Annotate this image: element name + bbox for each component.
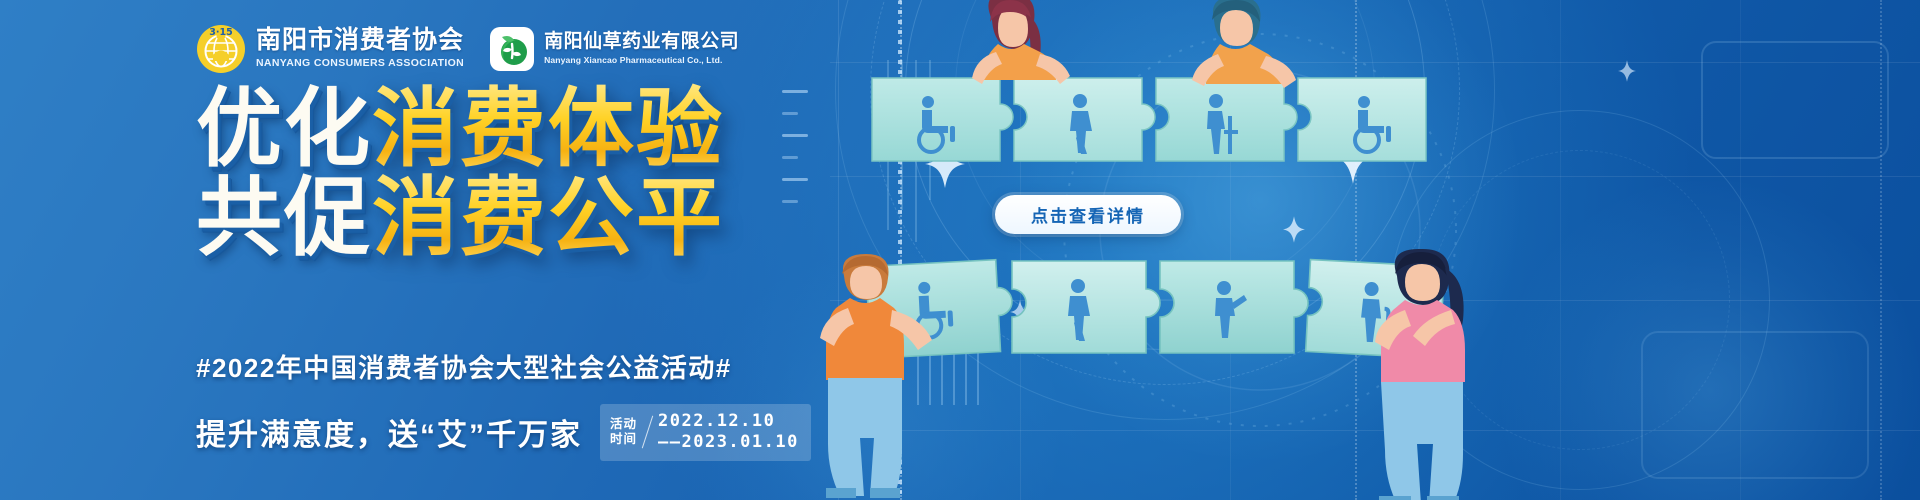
315-globe-icon: 3·15 [196, 24, 246, 74]
event-date-label-line1: 活动 [610, 417, 637, 433]
left-text-panel: 3·15 南阳市消费者协会 NANYANG CONSUMERS ASSOCIAT… [0, 0, 830, 500]
headline-line-1-white: 优化 [196, 79, 372, 179]
slogan-text: 提升满意度，送“艾”千万家 [196, 410, 582, 454]
headline-line-2-yellow: 消费公平 [372, 168, 724, 268]
green-leaf-icon [490, 27, 534, 71]
event-date-box: 活动 时间 2022.12.10 ——2023.01.10 [600, 404, 811, 461]
woman-red-hair [940, 0, 1090, 112]
headline-line-1: 优化消费体验 [196, 88, 724, 171]
logo-title-en: NANYANG CONSUMERS ASSOCIATION [256, 57, 464, 71]
event-date-label-line2: 时间 [610, 432, 637, 448]
logo-title-en: Nanyang Xiancao Pharmaceutical Co., Ltd. [544, 55, 739, 66]
headline-line-1-yellow: 消费体验 [372, 79, 724, 179]
logo-row: 3·15 南阳市消费者协会 NANYANG CONSUMERS ASSOCIAT… [196, 24, 739, 74]
view-details-button[interactable]: 点击查看详情 [995, 195, 1181, 234]
promo-banner: 3·15 南阳市消费者协会 NANYANG CONSUMERS ASSOCIAT… [0, 0, 1920, 500]
man-teal-hair [1160, 0, 1320, 114]
slogan-date-row: 提升满意度，送“艾”千万家 活动 时间 2022.12.10 ——2023.01… [196, 404, 811, 461]
illustration-panel: 点击查看详情 [830, 0, 1920, 500]
svg-text:3·15: 3·15 [209, 27, 232, 38]
event-date-values: 2022.12.10 ——2023.01.10 [658, 411, 799, 454]
event-end-date: ——2023.01.10 [658, 432, 799, 453]
headline-line-2-white: 共促 [196, 168, 372, 268]
logo-nanyang-xiancao: 南阳仙草药业有限公司 Nanyang Xiancao Pharmaceutica… [490, 27, 739, 71]
logo-nanyang-consumers-association: 3·15 南阳市消费者协会 NANYANG CONSUMERS ASSOCIAT… [196, 24, 464, 74]
headline: 优化消费体验 共促消费公平 [196, 88, 724, 261]
slash-divider [642, 416, 653, 449]
view-details-label: 点击查看详情 [1031, 202, 1145, 227]
logo-title-cn: 南阳市消费者协会 [256, 27, 464, 54]
event-start-date: 2022.12.10 [658, 411, 799, 432]
logo-title-cn: 南阳仙草药业有限公司 [544, 32, 739, 53]
boy-orange-shirt [792, 250, 942, 500]
headline-line-2: 共促消费公平 [196, 177, 724, 260]
hashtag-line: #2022年中国消费者协会大型社会公益活动# [196, 348, 732, 385]
woman-pink-shirt [1335, 246, 1505, 500]
event-date-label: 活动 时间 [610, 417, 637, 448]
